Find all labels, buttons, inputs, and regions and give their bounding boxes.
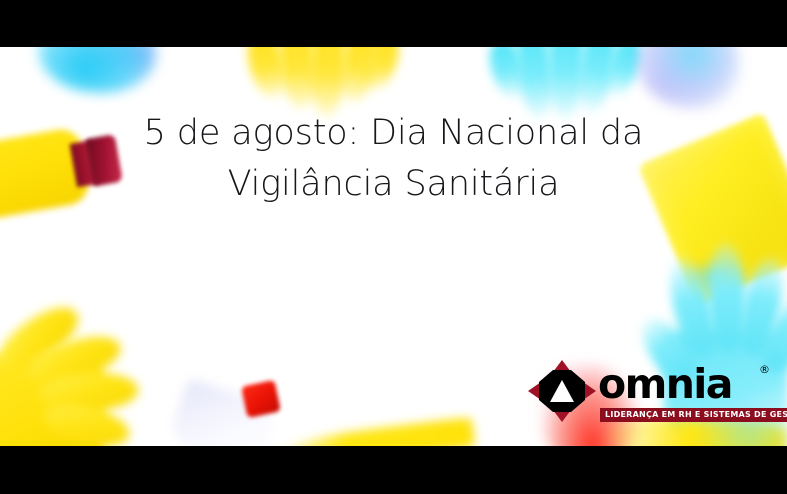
cyan-smudge-right-icon	[684, 261, 740, 295]
yellow-glove-palm	[0, 355, 104, 446]
omnia-tagline: LIDERANÇA EM RH E SISTEMAS DE GESTÃO	[600, 408, 787, 422]
red-object-bottom-center-icon	[241, 380, 281, 418]
omnia-logo-mark-icon	[528, 360, 596, 422]
spray-bottle-neck	[70, 140, 99, 187]
omnia-logo: omnia ® LIDERANÇA EM RH E SISTEMAS DE GE…	[528, 358, 772, 436]
white-cloth-smudge-icon	[168, 378, 280, 446]
registered-trademark-icon: ®	[759, 364, 770, 375]
cyan-glove-top-center-icon	[492, 47, 642, 127]
yellow-glove-bottom-left-icon	[0, 309, 156, 446]
yellow-sponge-icon	[638, 112, 787, 305]
spray-bottle-cap	[85, 134, 123, 186]
letterbox-bar-bottom	[0, 446, 787, 494]
yellow-smudge-bottom-icon	[273, 417, 475, 446]
blue-bottle-top-right-icon	[636, 47, 740, 109]
spray-bottle-body	[0, 126, 92, 227]
omnia-wordmark-text: omnia	[598, 362, 732, 406]
blue-glove-top-left-icon	[38, 47, 156, 93]
omnia-wordmark: omnia ®	[598, 362, 770, 406]
yellow-glove-top-center-icon	[248, 47, 402, 127]
video-slide-frame: 5 de agosto: Dia Nacional da Vigilância …	[0, 0, 787, 494]
yellow-spray-bottle-icon	[0, 113, 136, 234]
letterbox-bar-top	[0, 0, 787, 47]
